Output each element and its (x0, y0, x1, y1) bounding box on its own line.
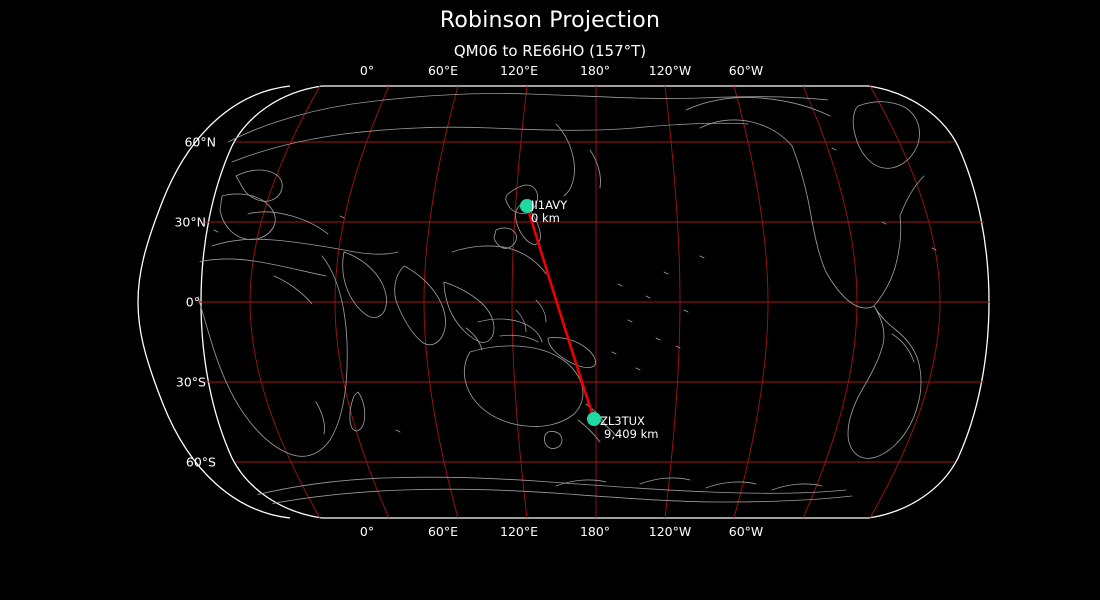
lon-tick-bottom-0: 0° (360, 524, 374, 539)
lat-tick-30s: 30°S (106, 375, 206, 390)
endpoint-marker-end[interactable] (587, 412, 601, 426)
lon-tick-bottom-1: 60°E (428, 524, 458, 539)
lon-tick-bottom-5: 60°W (729, 524, 764, 539)
lon-tick-top-5: 60°W (729, 63, 764, 78)
lat-tick-60s: 60°S (116, 455, 216, 470)
great-circle-path (527, 206, 594, 419)
map-figure: Robinson Projection QM06 to RE66HO (157°… (0, 0, 1100, 600)
lon-tick-top-2: 120°E (500, 63, 538, 78)
map-content (172, 86, 1008, 518)
endpoint-label-start: JI1AVY 0 km (531, 199, 567, 225)
coastlines (188, 93, 936, 508)
lon-tick-top-1: 60°E (428, 63, 458, 78)
lon-tick-top-3: 180° (580, 63, 610, 78)
lon-tick-bottom-2: 120°E (500, 524, 538, 539)
lat-tick-30n: 30°N (106, 215, 206, 230)
endpoint-label-end: ZL3TUX 9,409 km (600, 415, 658, 441)
lat-tick-0: 0° (100, 295, 200, 310)
lat-tick-60n: 60°N (116, 135, 216, 150)
lon-tick-top-4: 120°W (649, 63, 691, 78)
endpoint-distance-end: 9,409 km (604, 428, 658, 441)
endpoint-distance-start: 0 km (531, 212, 567, 225)
lon-tick-bottom-3: 180° (580, 524, 610, 539)
lon-tick-top-0: 0° (360, 63, 374, 78)
lon-tick-bottom-4: 120°W (649, 524, 691, 539)
